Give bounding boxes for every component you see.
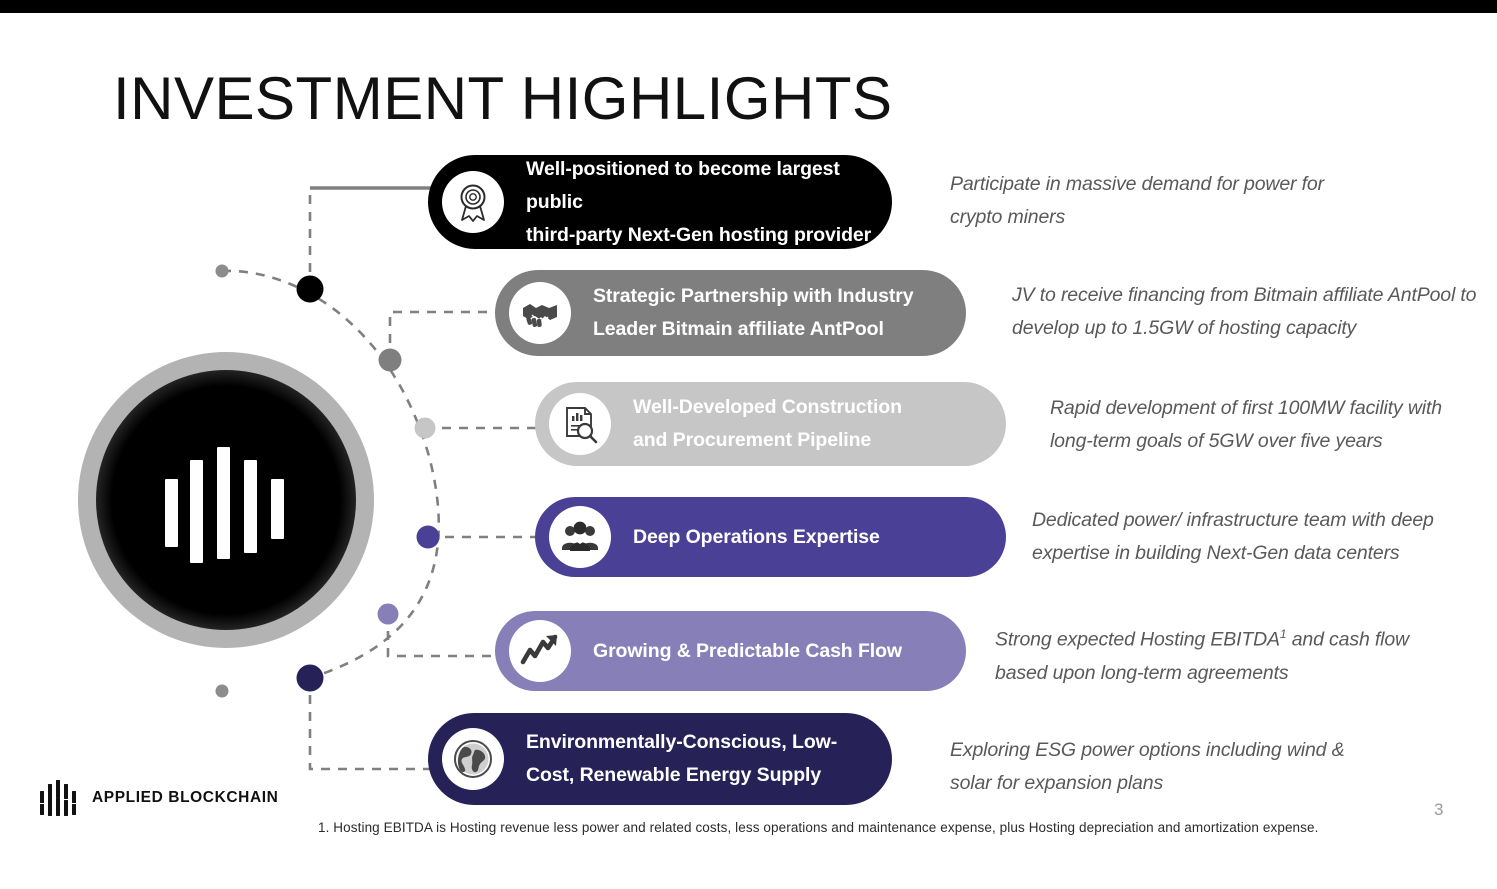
- highlight-pill-2-label: Strategic Partnership with Industry Lead…: [593, 280, 913, 346]
- people-team-icon: [549, 506, 611, 568]
- award-ribbon-icon: [442, 171, 504, 233]
- brand-name: APPLIED BLOCKCHAIN: [92, 789, 278, 807]
- page-number: 3: [1434, 800, 1443, 820]
- node-highlight-1[interactable]: [297, 276, 324, 303]
- highlight-pill-3-label: Well-Developed Construction and Procurem…: [633, 391, 902, 457]
- desc-4-line-1: Dedicated power/ infrastructure team wit…: [1032, 504, 1477, 537]
- desc-4-line-2: expertise in building Next-Gen data cent…: [1032, 537, 1477, 570]
- desc-5-line-1: Strong expected Hosting EBITDA1 and cash…: [995, 618, 1435, 657]
- desc-5-post: and cash flow: [1286, 629, 1409, 651]
- pill-2-line-2: Leader Bitmain affiliate AntPool: [593, 313, 913, 346]
- highlight-pill-6[interactable]: Environmentally-Conscious, Low- Cost, Re…: [428, 713, 892, 805]
- desc-6-line-2: solar for expansion plans: [950, 767, 1390, 800]
- desc-2-line-1: JV to receive financing from Bitmain aff…: [1012, 279, 1497, 312]
- pill-5-line-1: Growing & Predictable Cash Flow: [593, 635, 902, 668]
- logo-bars-mark: [165, 447, 287, 553]
- globe-icon: [442, 728, 504, 790]
- slide-canvas: INVESTMENT HIGHLIGHTS: [0, 0, 1497, 889]
- page-title: INVESTMENT HIGHLIGHTS: [113, 64, 892, 133]
- node-highlight-3[interactable]: [415, 418, 436, 439]
- highlight-pill-4-label: Deep Operations Expertise: [633, 521, 880, 554]
- brand-logo: APPLIED BLOCKCHAIN: [40, 780, 278, 816]
- desc-3-line-1: Rapid development of first 100MW facilit…: [1050, 392, 1490, 425]
- pill-2-line-1: Strategic Partnership with Industry: [593, 280, 913, 313]
- highlight-pill-4[interactable]: Deep Operations Expertise: [535, 497, 1006, 577]
- desc-5-pre: Strong expected Hosting EBITDA: [995, 629, 1280, 651]
- applied-blockchain-emblem: [78, 352, 374, 648]
- desc-1-line-1: Participate in massive demand for power …: [950, 168, 1470, 201]
- pill-6-line-2: Cost, Renewable Energy Supply: [526, 759, 837, 792]
- growth-arrow-icon: [509, 620, 571, 682]
- pill-1-line-1: Well-positioned to become largest public: [526, 153, 878, 219]
- footnote-text: 1. Hosting EBITDA is Hosting revenue les…: [318, 820, 1318, 835]
- handshake-icon: [509, 282, 571, 344]
- highlight-pill-1[interactable]: Well-positioned to become largest public…: [428, 155, 892, 249]
- highlight-description-1: Participate in massive demand for power …: [950, 168, 1470, 234]
- highlight-pill-5[interactable]: Growing & Predictable Cash Flow: [495, 611, 966, 691]
- highlight-description-4: Dedicated power/ infrastructure team wit…: [1032, 504, 1477, 570]
- desc-5-line-2: based upon long-term agreements: [995, 657, 1435, 690]
- pill-1-line-2: third-party Next-Gen hosting provider: [526, 219, 878, 252]
- pill-3-line-1: Well-Developed Construction: [633, 391, 902, 424]
- node-endpoint-top: [216, 265, 229, 278]
- pill-3-line-2: and Procurement Pipeline: [633, 424, 902, 457]
- desc-2-line-2: develop up to 1.5GW of hosting capacity: [1012, 312, 1497, 345]
- desc-6-line-1: Exploring ESG power options including wi…: [950, 734, 1390, 767]
- highlight-pill-6-label: Environmentally-Conscious, Low- Cost, Re…: [526, 726, 837, 792]
- highlight-description-6: Exploring ESG power options including wi…: [950, 734, 1390, 800]
- desc-3-line-2: long-term goals of 5GW over five years: [1050, 425, 1490, 458]
- pill-6-line-1: Environmentally-Conscious, Low-: [526, 726, 837, 759]
- highlight-pill-5-label: Growing & Predictable Cash Flow: [593, 635, 902, 668]
- node-highlight-5[interactable]: [378, 604, 399, 625]
- node-highlight-4[interactable]: [417, 526, 440, 549]
- node-highlight-6[interactable]: [297, 665, 324, 692]
- pill-4-line-1: Deep Operations Expertise: [633, 521, 880, 554]
- node-endpoint-bottom: [216, 685, 229, 698]
- document-search-icon: [549, 393, 611, 455]
- highlight-pill-2[interactable]: Strategic Partnership with Industry Lead…: [495, 270, 966, 356]
- highlight-description-3: Rapid development of first 100MW facilit…: [1050, 392, 1490, 458]
- highlight-pill-1-label: Well-positioned to become largest public…: [526, 153, 878, 252]
- highlight-description-5: Strong expected Hosting EBITDA1 and cash…: [995, 618, 1435, 690]
- top-black-bar: [0, 0, 1497, 13]
- highlight-description-2: JV to receive financing from Bitmain aff…: [1012, 279, 1497, 345]
- brand-logo-mark: [40, 780, 78, 816]
- desc-1-line-2: crypto miners: [950, 201, 1470, 234]
- highlight-pill-3[interactable]: Well-Developed Construction and Procurem…: [535, 382, 1006, 466]
- node-highlight-2[interactable]: [379, 349, 402, 372]
